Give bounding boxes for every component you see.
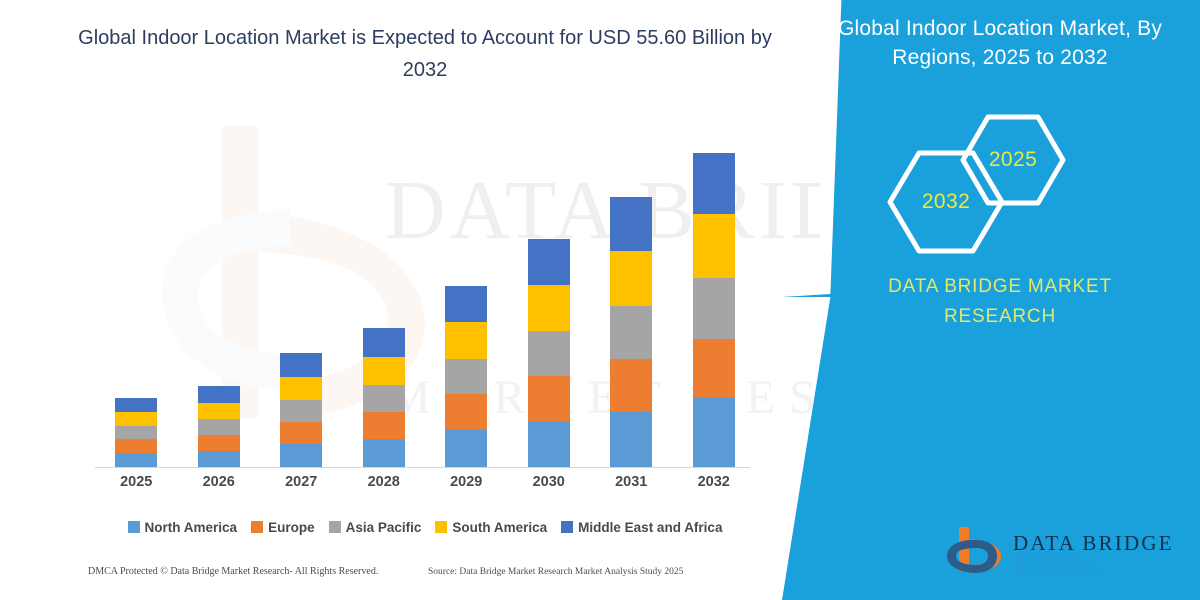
bar-segment-europe bbox=[528, 376, 570, 421]
x-axis-labels: 20252026202720282029203020312032 bbox=[95, 474, 755, 498]
legend-label: Asia Pacific bbox=[346, 520, 422, 535]
legend-label: North America bbox=[145, 520, 238, 535]
bar-segment-asia-pacific bbox=[445, 359, 487, 394]
bar-segment-south-america bbox=[280, 377, 322, 400]
logo-mark-icon bbox=[945, 525, 1007, 577]
bar-segment-south-america bbox=[610, 251, 652, 306]
hexagon-2032-label: 2032 bbox=[922, 190, 970, 214]
bar-segment-south-america bbox=[115, 412, 157, 426]
bar-segment-europe bbox=[693, 339, 735, 398]
bar-segment-asia-pacific bbox=[198, 419, 240, 435]
bar-segment-south-america bbox=[528, 285, 570, 331]
bar-column bbox=[508, 120, 590, 467]
legend-swatch-icon bbox=[329, 521, 341, 533]
legend-swatch-icon bbox=[435, 521, 447, 533]
stacked-bar-2026 bbox=[198, 386, 240, 467]
bar-segment-middle-east-and-africa bbox=[363, 328, 405, 357]
bar-column bbox=[95, 120, 177, 467]
bar-segment-asia-pacific bbox=[610, 306, 652, 359]
bar-column bbox=[178, 120, 260, 467]
bar-column bbox=[260, 120, 342, 467]
logo-wordmark: DATA BRIDGE bbox=[1013, 531, 1174, 556]
legend-label: Middle East and Africa bbox=[578, 520, 722, 535]
logo-tagline: MARKET RESEARCH bbox=[1015, 555, 1175, 577]
stacked-bar-2029 bbox=[445, 286, 487, 467]
x-axis-label-2029: 2029 bbox=[425, 474, 507, 498]
stacked-bar-2027 bbox=[280, 353, 322, 467]
bar-column bbox=[590, 120, 672, 467]
bar-segment-asia-pacific bbox=[115, 426, 157, 439]
hexagon-group: 2025 2032 bbox=[870, 112, 1100, 232]
bar-segment-europe bbox=[610, 359, 652, 412]
bar-segment-north-america bbox=[445, 430, 487, 467]
stacked-bar-2030 bbox=[528, 239, 570, 467]
bar-column bbox=[425, 120, 507, 467]
bar-segment-middle-east-and-africa bbox=[115, 398, 157, 412]
bar-segment-middle-east-and-africa bbox=[528, 239, 570, 285]
bar-column bbox=[673, 120, 755, 467]
side-panel-title: Global Indoor Location Market, By Region… bbox=[815, 14, 1185, 72]
bar-segment-north-america bbox=[115, 453, 157, 467]
legend-item-north-america[interactable]: North America bbox=[128, 520, 238, 535]
stacked-bar-chart bbox=[95, 120, 755, 467]
bar-segment-north-america bbox=[363, 439, 405, 467]
bar-segment-europe bbox=[445, 394, 487, 430]
stacked-bar-2031 bbox=[610, 197, 652, 467]
brand-name: DATA BRIDGE MARKET RESEARCH bbox=[820, 272, 1180, 332]
bar-column bbox=[343, 120, 425, 467]
bar-segment-north-america bbox=[693, 398, 735, 467]
bar-segment-north-america bbox=[198, 451, 240, 467]
legend-label: South America bbox=[452, 520, 547, 535]
bar-segment-asia-pacific bbox=[693, 278, 735, 339]
footer-copyright: DMCA Protected © Data Bridge Market Rese… bbox=[88, 566, 378, 577]
bar-segment-north-america bbox=[528, 421, 570, 467]
x-axis-label-2027: 2027 bbox=[260, 474, 342, 498]
legend-item-middle-east-and-africa[interactable]: Middle East and Africa bbox=[561, 520, 722, 535]
legend-item-south-america[interactable]: South America bbox=[435, 520, 547, 535]
stacked-bar-2032 bbox=[693, 153, 735, 467]
hexagon-2025-label: 2025 bbox=[989, 148, 1037, 172]
bar-segment-europe bbox=[363, 412, 405, 439]
legend-swatch-icon bbox=[561, 521, 573, 533]
footer: DMCA Protected © Data Bridge Market Rese… bbox=[0, 566, 800, 590]
brand-name-line2: RESEARCH bbox=[820, 302, 1180, 332]
x-axis-label-2030: 2030 bbox=[508, 474, 590, 498]
brand-name-line1: DATA BRIDGE MARKET bbox=[820, 272, 1180, 302]
legend-swatch-icon bbox=[251, 521, 263, 533]
legend-item-asia-pacific[interactable]: Asia Pacific bbox=[329, 520, 422, 535]
chart-legend: North AmericaEuropeAsia PacificSouth Ame… bbox=[95, 514, 755, 540]
bar-segment-south-america bbox=[363, 357, 405, 385]
bar-segment-middle-east-and-africa bbox=[693, 153, 735, 214]
bar-segment-south-america bbox=[198, 403, 240, 419]
bar-segment-north-america bbox=[610, 412, 652, 467]
stacked-bar-2028 bbox=[363, 328, 405, 467]
x-axis-line bbox=[95, 467, 750, 468]
bar-segment-south-america bbox=[693, 214, 735, 278]
bar-segment-middle-east-and-africa bbox=[610, 197, 652, 251]
bar-segment-middle-east-and-africa bbox=[445, 286, 487, 322]
x-axis-label-2026: 2026 bbox=[178, 474, 260, 498]
bar-segment-middle-east-and-africa bbox=[198, 386, 240, 403]
x-axis-label-2025: 2025 bbox=[95, 474, 177, 498]
bar-segment-europe bbox=[280, 422, 322, 444]
company-logo: DATA BRIDGE MARKET RESEARCH bbox=[945, 525, 1175, 583]
stacked-bar-2025 bbox=[115, 398, 157, 467]
x-axis-label-2032: 2032 bbox=[673, 474, 755, 498]
bar-segment-europe bbox=[115, 439, 157, 453]
bar-segment-north-america bbox=[280, 444, 322, 467]
bar-segment-middle-east-and-africa bbox=[280, 353, 322, 377]
infographic-canvas: DATA BRIDGE MARKET RESEARCH Global Indoo… bbox=[0, 0, 1200, 600]
legend-swatch-icon bbox=[128, 521, 140, 533]
bar-segment-europe bbox=[198, 435, 240, 451]
chart-title: Global Indoor Location Market is Expecte… bbox=[60, 22, 790, 86]
footer-source: Source: Data Bridge Market Research Mark… bbox=[428, 567, 683, 577]
x-axis-label-2031: 2031 bbox=[590, 474, 672, 498]
bar-segment-asia-pacific bbox=[363, 385, 405, 412]
bar-segment-south-america bbox=[445, 322, 487, 359]
bar-segment-asia-pacific bbox=[528, 331, 570, 376]
x-axis-label-2028: 2028 bbox=[343, 474, 425, 498]
side-panel: Global Indoor Location Market, By Region… bbox=[760, 0, 1200, 600]
legend-item-europe[interactable]: Europe bbox=[251, 520, 315, 535]
bar-segment-asia-pacific bbox=[280, 400, 322, 422]
legend-label: Europe bbox=[268, 520, 315, 535]
